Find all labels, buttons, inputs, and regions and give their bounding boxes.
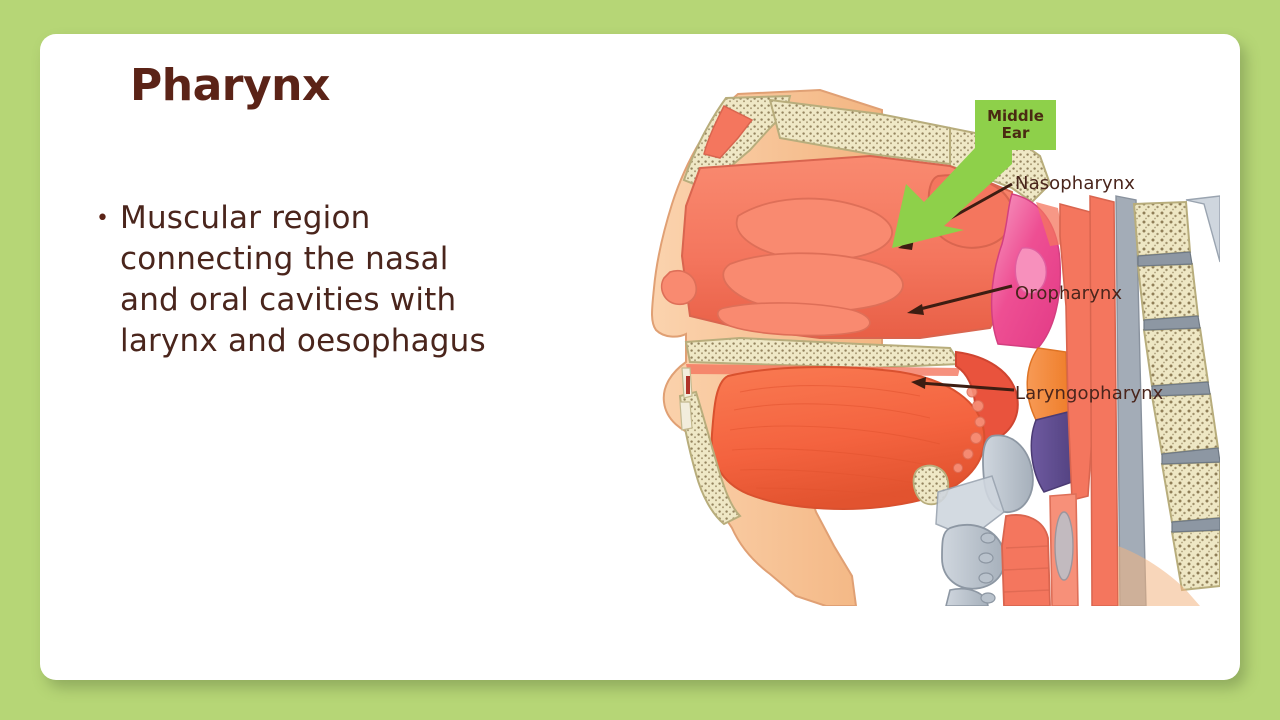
trachea — [979, 515, 1050, 606]
slide-root: Pharynx • Muscular region connecting the… — [0, 0, 1280, 720]
list-item: • Muscular region connecting the nasal a… — [92, 198, 512, 362]
label-nasopharynx: Nasopharynx — [1015, 173, 1135, 194]
body-bullet-list: • Muscular region connecting the nasal a… — [92, 198, 512, 362]
middle-ear-callout-label: Middle Ear — [975, 100, 1056, 150]
bullet-text: Muscular region connecting the nasal and… — [120, 198, 512, 362]
page-title: Pharynx — [130, 62, 330, 110]
oesophagus — [1050, 494, 1078, 606]
label-oropharynx: Oropharynx — [1015, 283, 1122, 304]
laryngopharynx-region — [1031, 412, 1072, 492]
middle-ear-callout-box: Middle Ear — [975, 100, 1056, 150]
laryngopharynx-leader-line — [911, 377, 1014, 390]
bullet-marker-icon: • — [92, 198, 120, 239]
label-laryngopharynx: Laryngopharynx — [1015, 383, 1163, 404]
callout-line-1: Middle — [987, 108, 1044, 125]
callout-line-2: Ear — [1002, 125, 1030, 142]
oropharynx-leader-line — [907, 286, 1012, 315]
